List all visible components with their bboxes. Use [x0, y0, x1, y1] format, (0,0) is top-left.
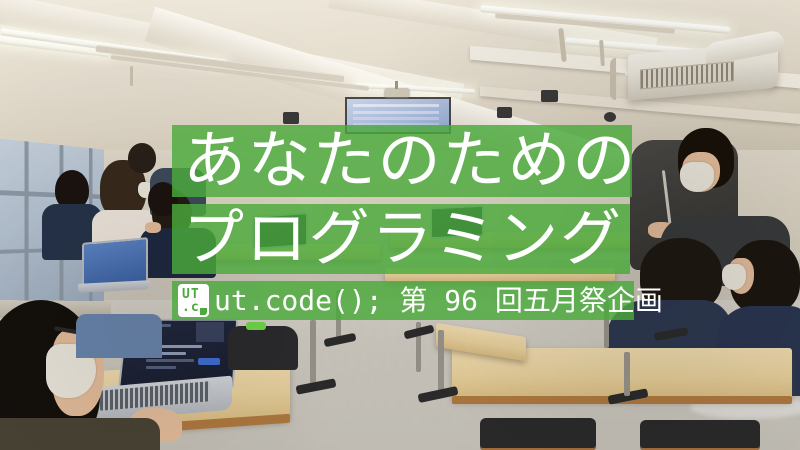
- student-body: [76, 314, 162, 358]
- student-head: [128, 143, 156, 173]
- code-line: [196, 322, 224, 342]
- desk-leg: [624, 352, 630, 396]
- code-line: [146, 359, 194, 362]
- headline-line-1: あなたのための: [183, 128, 637, 194]
- desk-leg: [310, 320, 316, 390]
- utcode-logo: UT .c: [178, 284, 209, 317]
- window-mullion: [24, 141, 28, 310]
- backpack-strap: [246, 322, 266, 330]
- desk-leg: [438, 330, 444, 392]
- ceiling-pipe: [130, 66, 133, 86]
- air-conditioner-pipe: [610, 58, 616, 100]
- chair-back: [640, 420, 760, 450]
- foreground-person-body: [0, 418, 160, 450]
- wall-speaker: [541, 90, 558, 102]
- wall-speaker: [283, 112, 299, 124]
- wall-camera: [604, 112, 616, 122]
- poster-canvas: あなたのための プログラミング UT .c ut.code(); 第 96 回五…: [0, 0, 800, 450]
- face-mask: [680, 162, 714, 192]
- subtitle-text: ut.code(); 第 96 回五月祭企画: [214, 285, 663, 317]
- face-mask: [722, 264, 746, 290]
- headline-line-2: プログラミング: [183, 206, 623, 270]
- student-hand: [145, 222, 161, 233]
- code-line: [146, 366, 176, 369]
- air-conditioner-grill: [640, 61, 734, 89]
- chair-back: [480, 418, 596, 450]
- code-action-button: [198, 358, 220, 365]
- projector: [385, 88, 409, 97]
- backpack: [228, 326, 298, 370]
- logo-bottom-text: .c: [182, 301, 200, 314]
- wall-speaker: [497, 107, 512, 118]
